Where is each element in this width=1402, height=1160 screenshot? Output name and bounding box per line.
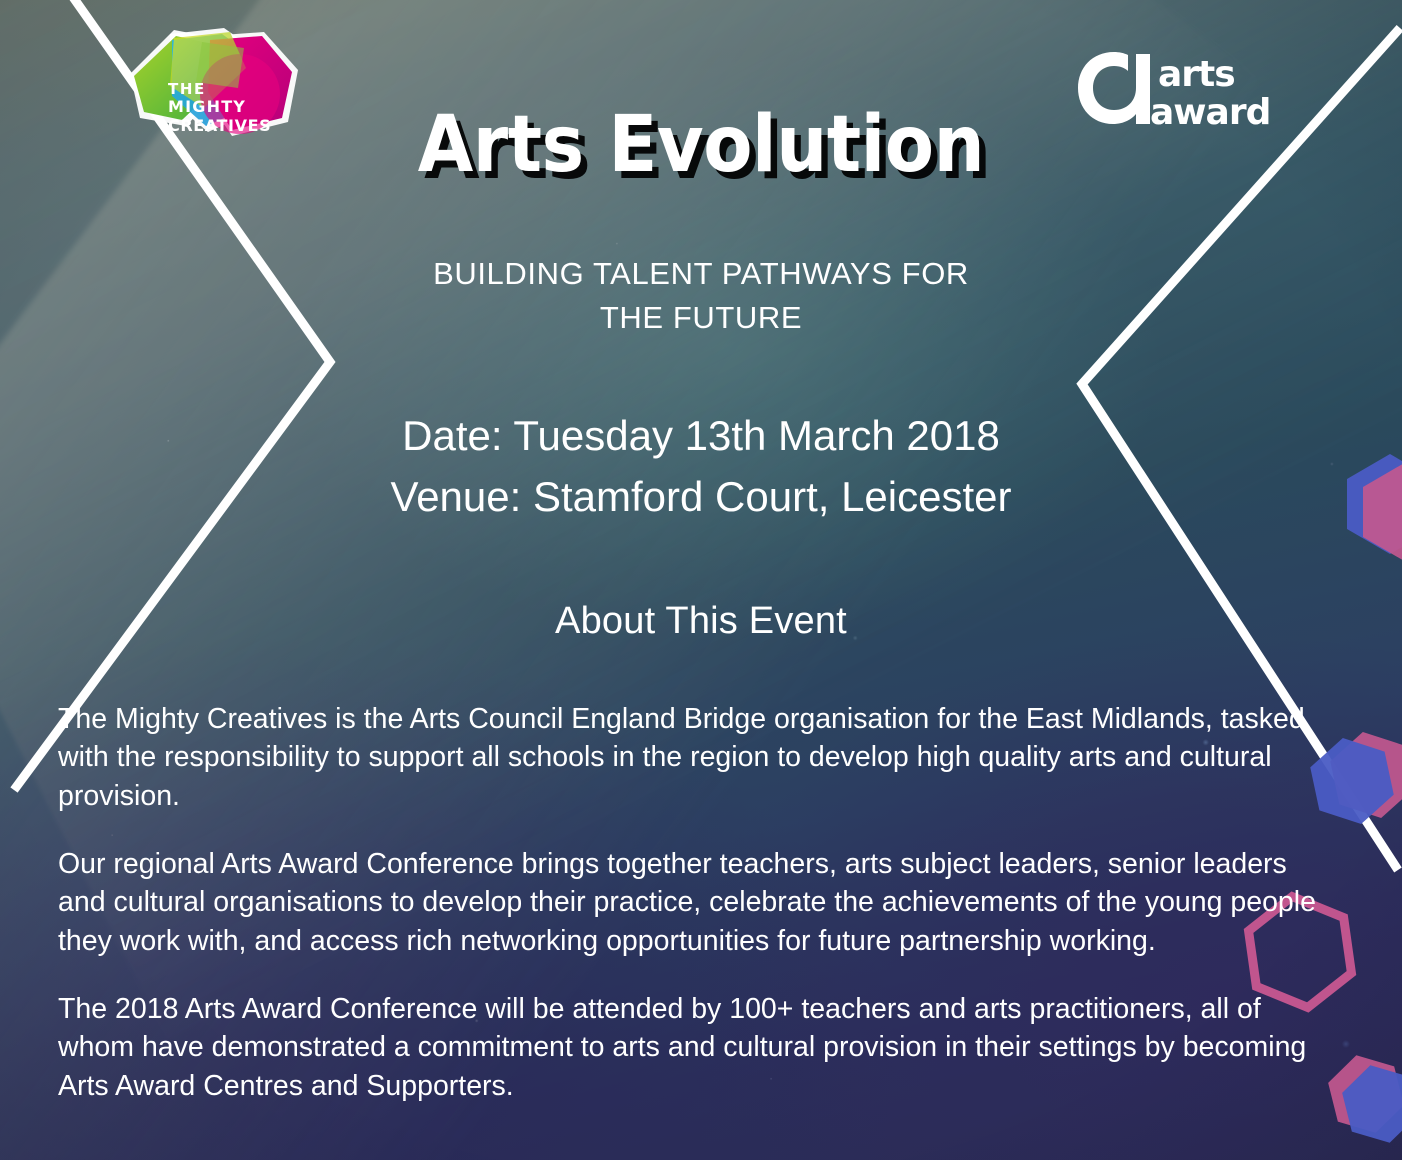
poster-subtitle: BUILDING TALENT PATHWAYS FOR THE FUTURE <box>321 252 1081 340</box>
about-paragraph: Our regional Arts Award Conference bring… <box>58 845 1323 960</box>
event-details: Date: Tuesday 13th March 2018 Venue: Sta… <box>201 405 1201 528</box>
event-venue: Venue: Stamford Court, Leicester <box>201 466 1201 527</box>
about-paragraph: The 2018 Arts Award Conference will be a… <box>58 990 1323 1105</box>
about-paragraph: The Mighty Creatives is the Arts Council… <box>58 700 1323 815</box>
poster-subtitle-line-2: THE FUTURE <box>321 296 1081 340</box>
logo-line-1: THE <box>168 80 206 98</box>
event-poster: THE MIGHTY CREATIVES arts award Arts Evo… <box>0 0 1402 1160</box>
about-section-body: The Mighty Creatives is the Arts Council… <box>58 700 1323 1105</box>
hexagon-blue-pink-bottom-right <box>1323 1047 1402 1151</box>
poster-title: Arts Evolution <box>56 106 1346 184</box>
arts-award-line-1: arts <box>1158 54 1235 95</box>
poster-subtitle-line-1: BUILDING TALENT PATHWAYS FOR <box>321 252 1081 296</box>
about-section-heading: About This Event <box>555 600 847 643</box>
hexagon-pink-blue-top-right <box>1347 454 1402 562</box>
event-date: Date: Tuesday 13th March 2018 <box>201 405 1201 466</box>
